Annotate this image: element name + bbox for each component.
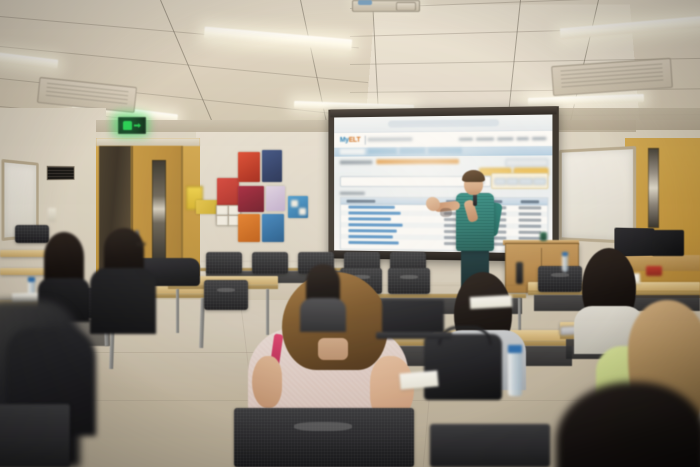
student-torso	[90, 268, 156, 334]
laptop-base	[376, 332, 452, 339]
wall-paper-holder	[48, 208, 56, 222]
wall-poster	[262, 214, 284, 242]
filter-chip[interactable]	[519, 178, 533, 185]
table-cell	[348, 218, 390, 221]
table-cell	[348, 230, 396, 233]
logo-elt: ELT	[349, 137, 361, 144]
speaker	[396, 2, 416, 11]
papers	[399, 370, 438, 389]
wall-vent-left	[47, 166, 75, 180]
bottle-cap	[28, 277, 35, 282]
table-cell	[519, 219, 542, 222]
chair[interactable]	[430, 424, 550, 467]
wall-poster	[266, 186, 285, 211]
nav-tab[interactable]	[400, 148, 426, 154]
primary-button[interactable]	[513, 168, 548, 176]
table-cell	[348, 206, 394, 209]
wall-poster	[238, 186, 264, 212]
section-label	[340, 192, 365, 195]
logo-divider	[365, 136, 366, 145]
chair[interactable]	[252, 252, 288, 274]
wall-poster	[299, 208, 306, 215]
column-header[interactable]	[347, 200, 376, 203]
wall-window-right	[648, 148, 659, 228]
student-left-2	[92, 228, 154, 318]
presenter-hair	[462, 170, 485, 182]
student-neck	[318, 338, 348, 360]
podium-cup	[540, 232, 547, 241]
computer-monitor	[652, 230, 684, 256]
water-bottle	[508, 352, 522, 396]
header-link[interactable]	[476, 138, 494, 141]
nav-tab[interactable]	[368, 148, 397, 154]
chair-handle	[294, 422, 352, 431]
bottle-cap	[562, 252, 568, 256]
myelt-logo[interactable]: MyELT	[340, 136, 361, 145]
papers	[470, 295, 513, 309]
chair[interactable]	[234, 408, 414, 467]
filter-chip[interactable]	[533, 178, 546, 185]
header-link[interactable]	[532, 137, 546, 140]
laptop	[382, 300, 444, 334]
nav-tab[interactable]	[340, 149, 365, 155]
table-cell	[519, 213, 542, 216]
header-link[interactable]	[459, 138, 473, 141]
chair[interactable]	[0, 404, 70, 467]
presenter-hand-left	[426, 197, 440, 211]
browser-url-bar[interactable]	[388, 119, 499, 127]
table-cell	[519, 207, 542, 210]
student-shoulder	[252, 356, 282, 408]
student-bottomright-foreground	[556, 382, 700, 467]
projected-application: MyELT	[334, 114, 552, 253]
desk-leg	[176, 289, 179, 333]
chair-handle	[551, 273, 569, 277]
table-cell	[519, 225, 542, 228]
bulkhead-shadow	[540, 108, 700, 130]
presenter-tattoo	[440, 208, 452, 217]
red-object	[646, 266, 662, 276]
filter-chip[interactable]	[506, 178, 518, 185]
wall-poster	[262, 150, 282, 182]
chair-handle	[217, 288, 235, 292]
header-link[interactable]	[497, 137, 513, 140]
door-frame	[96, 138, 200, 146]
secondary-button[interactable]	[505, 158, 548, 166]
nav-tab[interactable]	[428, 148, 462, 154]
chair[interactable]	[206, 252, 242, 274]
wall-poster	[238, 214, 260, 242]
water-bottle	[562, 255, 568, 272]
projection-screen: MyELT	[328, 106, 558, 262]
student-center-back	[300, 264, 346, 324]
student-torso	[300, 298, 346, 332]
table-cell	[348, 212, 400, 215]
wall-poster	[291, 200, 298, 207]
bottle-cap	[508, 345, 522, 353]
logo-my: My	[340, 137, 349, 144]
student-head	[556, 382, 700, 467]
projector-lens	[358, 0, 372, 5]
table-cell	[348, 224, 402, 227]
browser-toolbar	[334, 114, 552, 134]
page-title	[376, 159, 459, 164]
table-cell	[519, 231, 542, 234]
table-cell	[348, 235, 392, 238]
student-left-back	[36, 232, 88, 306]
door-window	[152, 160, 166, 262]
column-header[interactable]	[521, 200, 540, 203]
breadcrumb[interactable]	[340, 160, 373, 164]
student-glasses	[136, 242, 146, 246]
table-cell	[348, 241, 398, 244]
exit-sign-glow	[108, 104, 154, 138]
header-link[interactable]	[517, 137, 529, 140]
classroom-photo: MyELT	[0, 0, 700, 467]
logo-tagline	[368, 137, 413, 141]
wall-poster	[238, 152, 260, 182]
